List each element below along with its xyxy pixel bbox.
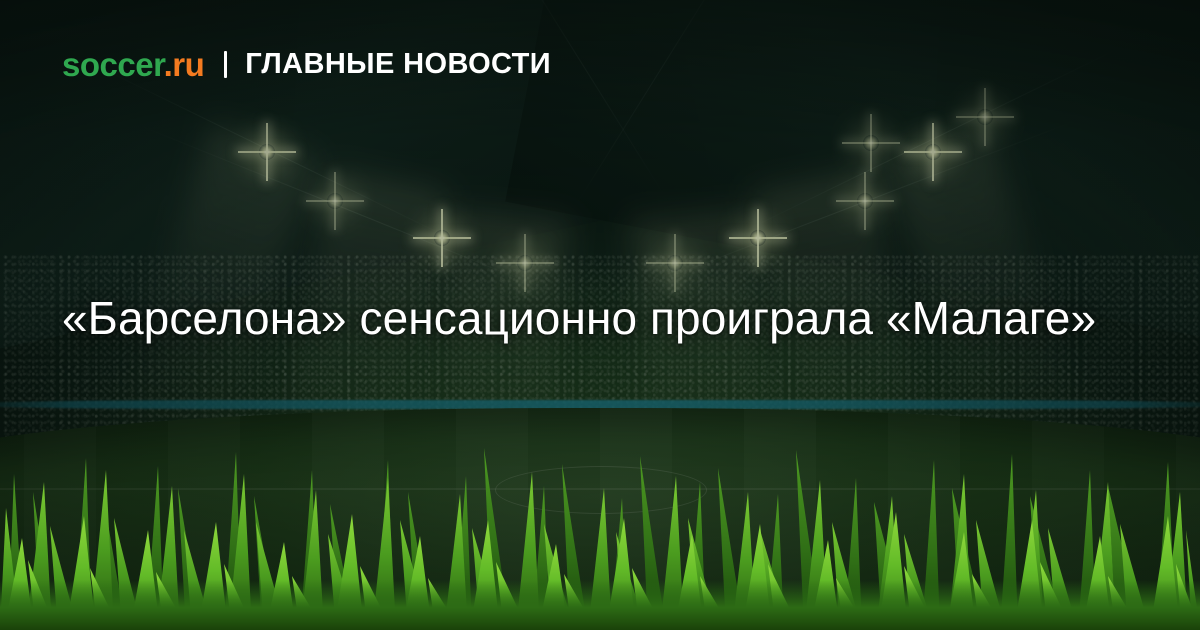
grass-foreground — [0, 430, 1200, 630]
header-separator — [224, 51, 227, 78]
page-title: «Барселона» сенсационно проиграла «Малаг… — [62, 289, 1152, 348]
turf-base — [0, 580, 1200, 630]
section-title: ГЛАВНЫЕ НОВОСТИ — [245, 50, 551, 79]
logo-tld: .ru — [164, 46, 205, 83]
logo-word: soccer — [62, 46, 164, 83]
site-logo[interactable]: soccer.ru — [62, 48, 204, 81]
card-header: soccer.ru ГЛАВНЫЕ НОВОСТИ — [62, 48, 551, 81]
news-share-card: soccer.ru ГЛАВНЫЕ НОВОСТИ «Барселона» се… — [0, 0, 1200, 630]
